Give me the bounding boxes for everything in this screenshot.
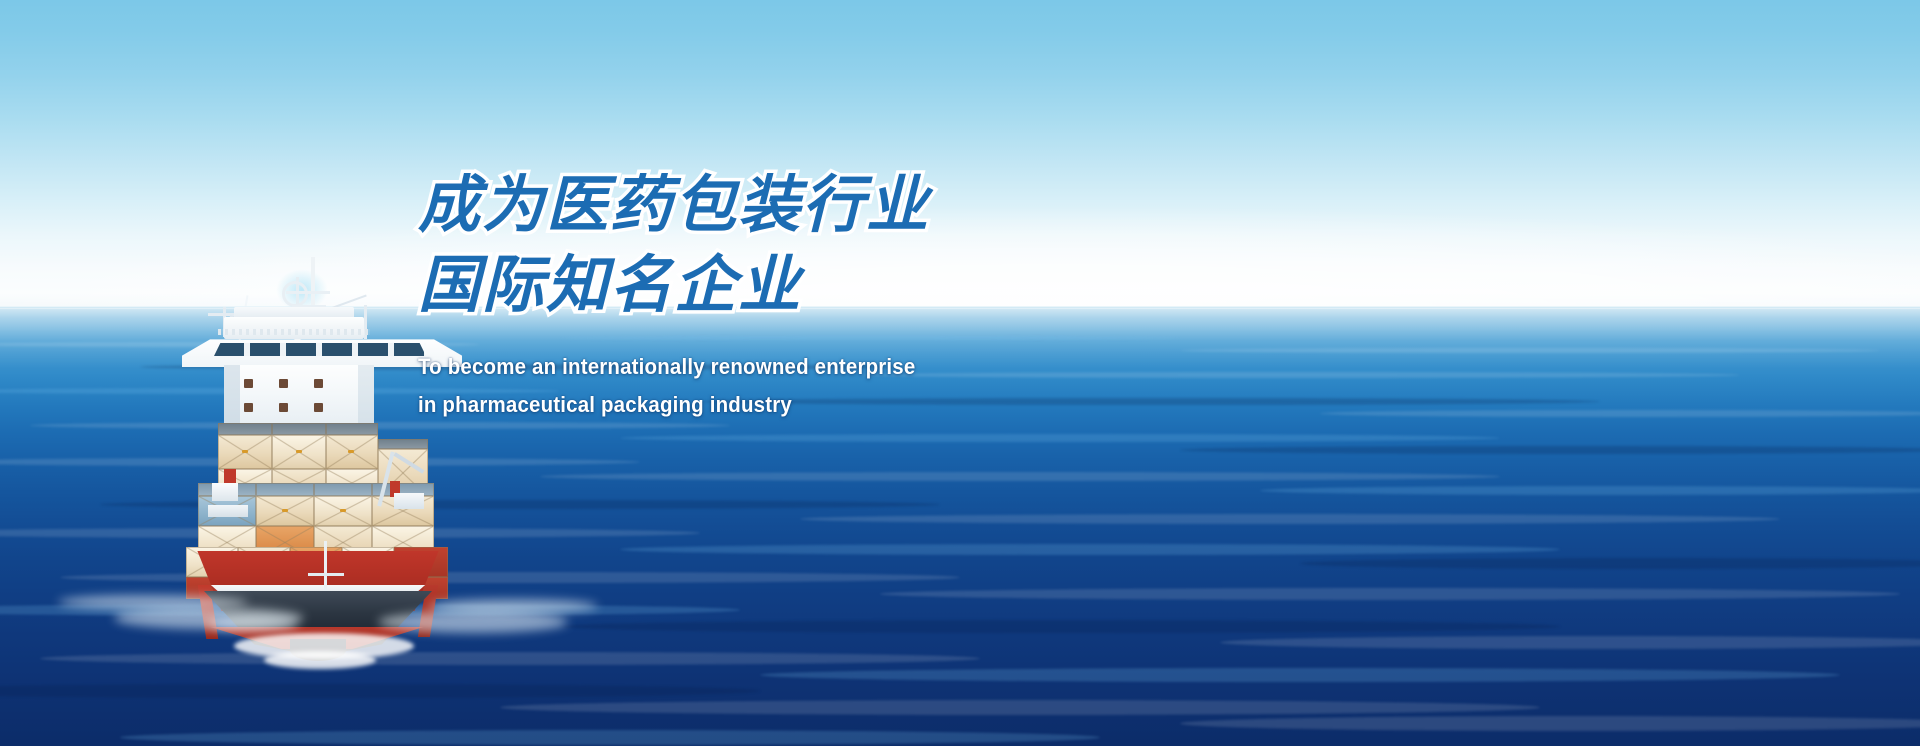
porthole-icon [244, 379, 253, 388]
mast-crossbar-upper [286, 291, 330, 294]
deck-equipment [394, 493, 424, 509]
accommodation-block [224, 365, 374, 427]
radar-ring-icon [282, 281, 308, 307]
accommodation-shadow-left [224, 365, 240, 427]
bow-wake-starboard [378, 611, 568, 633]
hero-copy: 成为医药包装行业 国际知名企业 To become an internation… [418, 166, 1178, 424]
deck-marker [224, 469, 236, 483]
porthole-icon [314, 379, 323, 388]
subheadline: To become an internationally renowned en… [418, 348, 1125, 424]
subheadline-line-2: in pharmaceutical packaging industry [418, 386, 1125, 424]
fore-mast-crossbar [308, 573, 344, 576]
subheadline-line-1: To become an internationally renowned en… [418, 348, 1125, 386]
bow-spray [208, 617, 298, 631]
hero-banner: 成为医药包装行业 国际知名企业 To become an internation… [0, 0, 1920, 746]
deck-equipment [212, 483, 238, 501]
wake-trail-port [58, 595, 248, 609]
headline-line-2: 国际知名企业 [418, 246, 1178, 326]
bridge-railing [218, 329, 370, 335]
porthole-icon [314, 403, 323, 412]
porthole-icon [244, 403, 253, 412]
headline-line-1: 成为医药包装行业 [418, 171, 930, 240]
deck-walkway [208, 505, 248, 517]
headline: 成为医药包装行业 国际知名企业 [418, 166, 1178, 326]
porthole-icon [279, 379, 288, 388]
porthole-icon [279, 403, 288, 412]
bow-foam-crest [264, 651, 376, 669]
accommodation-shadow-right [358, 365, 374, 427]
bridge-roof [224, 317, 364, 339]
bridge-window-mullions [214, 343, 426, 356]
wake-trail-starboard [428, 599, 598, 613]
